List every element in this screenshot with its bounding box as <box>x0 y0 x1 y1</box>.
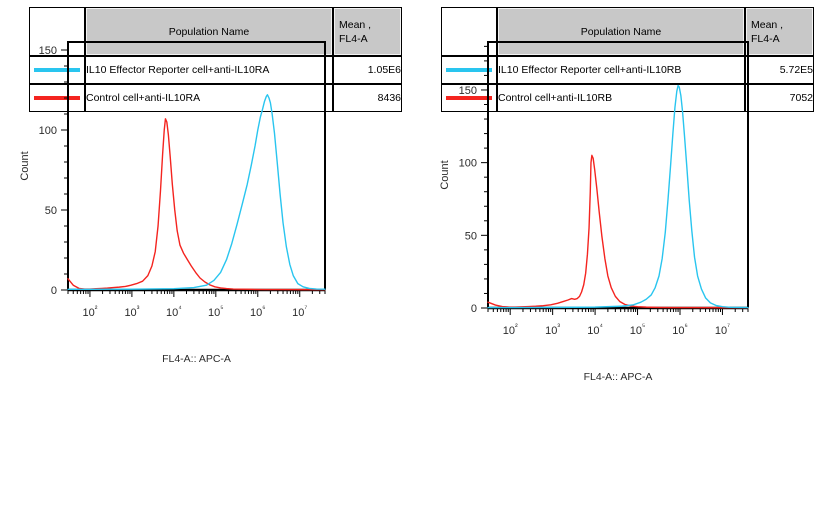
histogram-svg-il10rb[interactable]: 05010015010²10³10⁴10⁵10⁶10⁷CountFL4-A:: … <box>417 0 833 392</box>
y-tick-label: 0 <box>51 285 57 297</box>
histogram-plot-il10ra: 05010015010²10³10⁴10⁵10⁶10⁷CountFL4-A:: … <box>0 0 417 372</box>
x-tick-label: 10⁴ <box>166 304 182 319</box>
y-axis-label: Count <box>19 151 31 180</box>
y-tick-label: 50 <box>465 230 477 242</box>
x-tick-label: 10³ <box>545 322 560 337</box>
y-tick-label: 0 <box>471 303 477 315</box>
x-axis-label: FL4-A:: APC-A <box>584 371 653 383</box>
y-tick-label: 100 <box>39 125 57 137</box>
y-tick-label: 150 <box>459 85 477 97</box>
y-tick-label: 50 <box>45 205 57 217</box>
x-tick-label: 10⁶ <box>672 322 688 337</box>
x-tick-label: 10⁵ <box>208 304 224 319</box>
panel-il10ra: Population Name Mean , FL4-A IL10 Effect… <box>0 0 417 522</box>
x-tick-label: 10² <box>503 322 518 337</box>
histogram-svg-il10ra[interactable]: 05010015010²10³10⁴10⁵10⁶10⁷CountFL4-A:: … <box>0 0 417 372</box>
y-tick-label: 150 <box>39 45 57 57</box>
x-tick-label: 10⁶ <box>250 304 266 319</box>
x-tick-label: 10³ <box>124 304 139 319</box>
y-axis-label: Count <box>439 160 451 189</box>
x-tick-label: 10² <box>82 304 97 319</box>
panel-il10rb: Population Name Mean , FL4-A IL10 Effect… <box>417 0 833 522</box>
x-axis-label: FL4-A:: APC-A <box>162 353 231 365</box>
y-tick-label: 100 <box>459 158 477 170</box>
x-tick-label: 10⁵ <box>630 322 646 337</box>
histogram-plot-il10rb: 05010015010²10³10⁴10⁵10⁶10⁷CountFL4-A:: … <box>417 0 833 392</box>
x-tick-label: 10⁷ <box>715 322 730 337</box>
x-tick-label: 10⁴ <box>587 322 603 337</box>
x-tick-label: 10⁷ <box>292 304 307 319</box>
